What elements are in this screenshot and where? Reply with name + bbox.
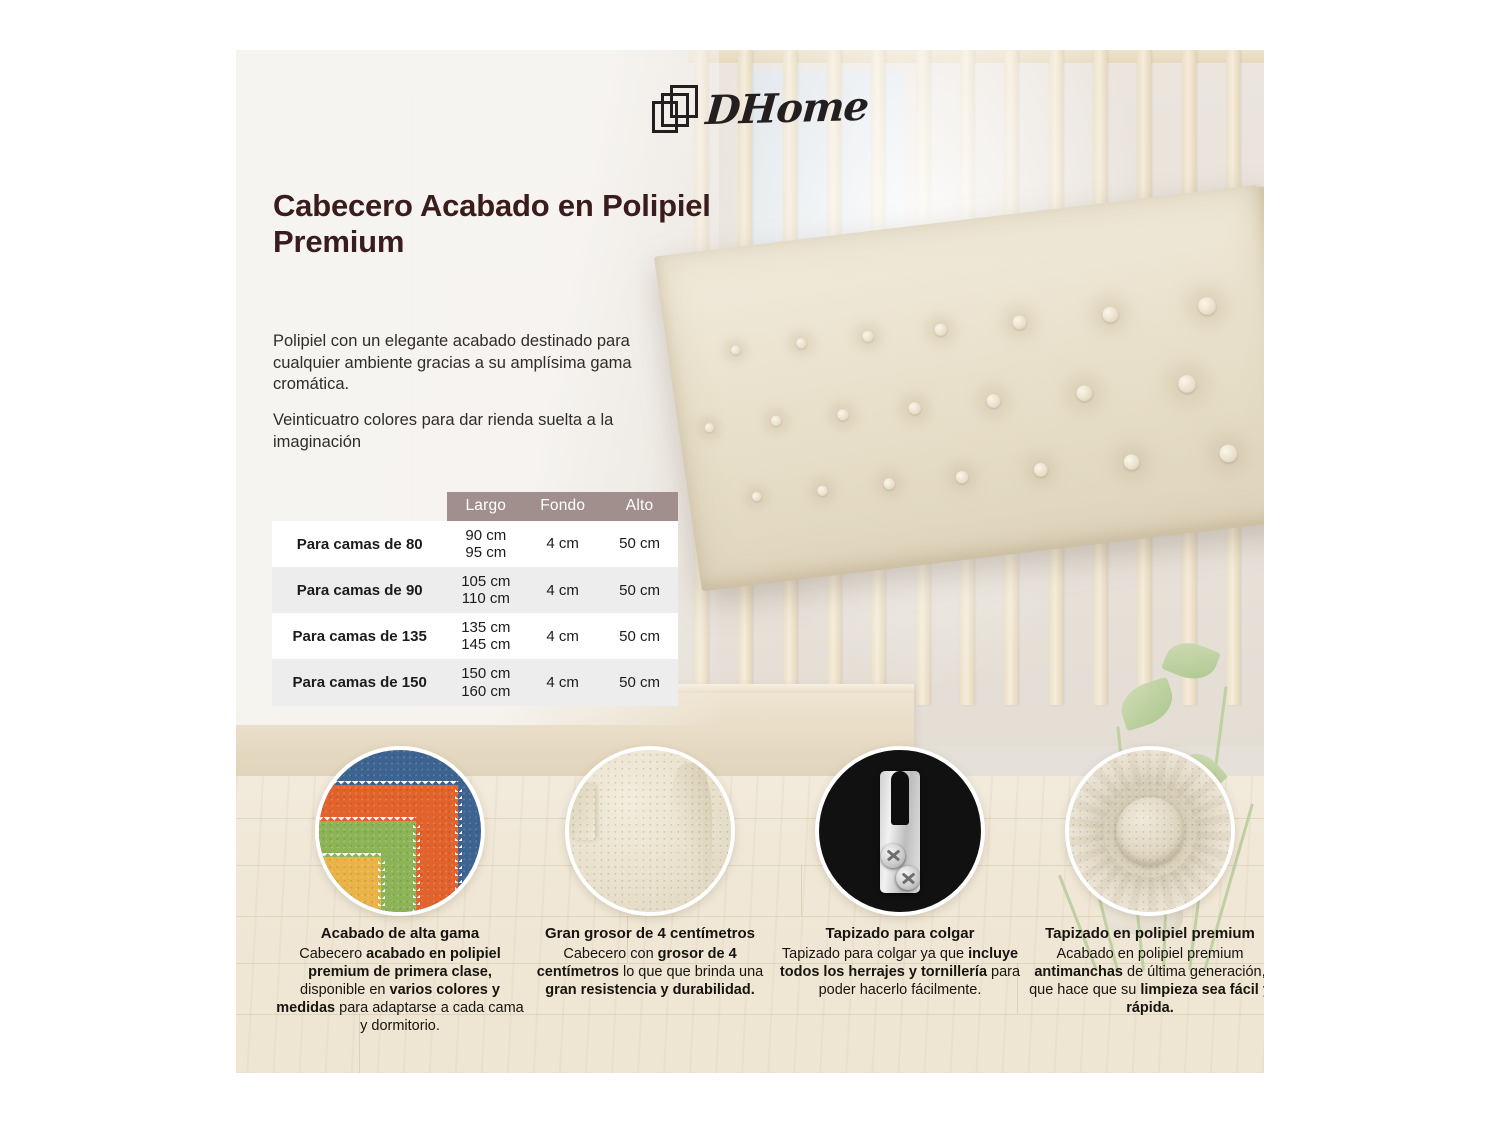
headboard-button-tuft [1218, 443, 1238, 462]
overlapping-squares-icon [652, 85, 696, 131]
table-cell-alto: 50 cm [601, 576, 678, 605]
headboard-button-tuft [751, 491, 762, 501]
headboard-button-tuft [986, 393, 1002, 408]
wall-hanging-bracket-icon [815, 746, 985, 916]
table-cell-fondo: 4 cm [524, 529, 601, 558]
description-paragraph-1: Polipiel con un elegante acabado destina… [273, 331, 694, 395]
feature-title: Tapizado en polipiel premium [1024, 925, 1264, 943]
brand-name: DHome [704, 83, 870, 134]
table-cell-bed-size: Para camas de 135 [272, 622, 447, 651]
table-cell-bed-size: Para camas de 80 [272, 530, 447, 559]
leather-crease [669, 763, 711, 902]
table-header-fondo: Fondo [524, 492, 601, 521]
dimensions-table: LargoFondoAlto Para camas de 8090 cm95 c… [272, 492, 678, 706]
table-cell-alto: 50 cm [601, 668, 678, 697]
leather-fold-edge [566, 785, 595, 840]
product-infographic-canvas: DHome Cabecero Acabado en Polipiel Premi… [236, 50, 1264, 1073]
table-cell-bed-size: Para camas de 150 [272, 668, 447, 697]
brand-logo: DHome [652, 85, 868, 132]
feature-card: Tapizado para colgarTapizado para colgar… [774, 746, 1026, 1000]
table-row: Para camas de 135135 cm145 cm4 cm50 cm [272, 613, 678, 659]
feature-card: Tapizado en polipiel premiumAcabado en p… [1024, 746, 1264, 1018]
feature-description: Acabado en polipiel premium antimanchas … [1024, 946, 1264, 1018]
table-row: Para camas de 150150 cm160 cm4 cm50 cm [272, 659, 678, 705]
tufted-headboard-photo [654, 184, 1264, 590]
table-cell-largo: 135 cm145 cm [447, 613, 524, 659]
feature-description: Cabecero con grosor de 4 centímetros lo … [524, 946, 776, 1000]
headboard-panel [654, 184, 1264, 590]
headboard-button-tuft [862, 330, 875, 342]
swatch-yellow [315, 857, 381, 912]
table-cell-fondo: 4 cm [524, 668, 601, 697]
table-header-largo: Largo [447, 492, 524, 521]
bracket-keyhole-slot [891, 771, 909, 825]
table-cell-largo: 90 cm95 cm [447, 521, 524, 567]
table-cell-bed-size: Para camas de 90 [272, 576, 447, 605]
table-header-row: LargoFondoAlto [447, 492, 678, 521]
feature-card: Acabado de alta gamaCabecero acabado en … [274, 746, 526, 1036]
feature-title: Gran grosor de 4 centímetros [524, 925, 776, 943]
table-row: Para camas de 90105 cm110 cm4 cm50 cm [272, 567, 678, 613]
headboard-button-tuft [1033, 462, 1049, 477]
fabric-color-swatches-icon [315, 746, 485, 916]
headboard-button-tuft [1197, 296, 1217, 315]
headboard-button-tuft [1076, 384, 1094, 401]
feature-description: Tapizado para colgar ya que incluye todo… [774, 946, 1026, 1000]
headboard-button-tuft [883, 477, 896, 489]
table-cell-largo: 150 cm160 cm [447, 659, 524, 705]
page-title: Cabecero Acabado en Polipiel Premium [273, 188, 725, 261]
headboard-button-tuft [730, 344, 741, 354]
headboard-button-tuft [1012, 315, 1028, 330]
feature-highlights: Acabado de alta gamaCabecero acabado en … [236, 746, 1264, 1073]
screw-upper [881, 844, 905, 868]
table-cell-alto: 50 cm [601, 529, 678, 558]
table-cell-alto: 50 cm [601, 622, 678, 651]
feature-description: Cabecero acabado en polipiel premium de … [274, 946, 526, 1036]
headboard-button-tuft [817, 484, 829, 496]
leather-thickness-icon [565, 746, 735, 916]
feature-title: Tapizado para colgar [774, 925, 1026, 943]
headboard-button-tuft [934, 323, 948, 337]
headboard-button-tuft [770, 415, 782, 427]
headboard-button-tuft [796, 337, 808, 349]
description-paragraph-2: Veinticuatro colores para dar rienda sue… [273, 410, 694, 453]
tufted-button [1116, 797, 1184, 865]
headboard-button-tuft [955, 470, 969, 484]
table-cell-fondo: 4 cm [524, 622, 601, 651]
headboard-button-tuft [908, 401, 922, 415]
headboard-button-tuft [1177, 373, 1197, 392]
page-root: DHome Cabecero Acabado en Polipiel Premi… [0, 0, 1500, 1125]
table-header-alto: Alto [601, 492, 678, 521]
table-row: Para camas de 8090 cm95 cm4 cm50 cm [272, 521, 678, 567]
table-cell-largo: 105 cm110 cm [447, 567, 524, 613]
feature-title: Acabado de alta gama [274, 925, 526, 943]
tufted-button-closeup-icon [1065, 746, 1235, 916]
feature-card: Gran grosor de 4 centímetrosCabecero con… [524, 746, 776, 1000]
table-cell-fondo: 4 cm [524, 576, 601, 605]
headboard-button-tuft [1122, 453, 1140, 470]
table-body: Para camas de 8090 cm95 cm4 cm50 cmPara … [272, 521, 678, 706]
headboard-button-tuft [836, 408, 849, 420]
headboard-button-tuft [704, 422, 715, 432]
headboard-button-tuft [1101, 306, 1119, 323]
